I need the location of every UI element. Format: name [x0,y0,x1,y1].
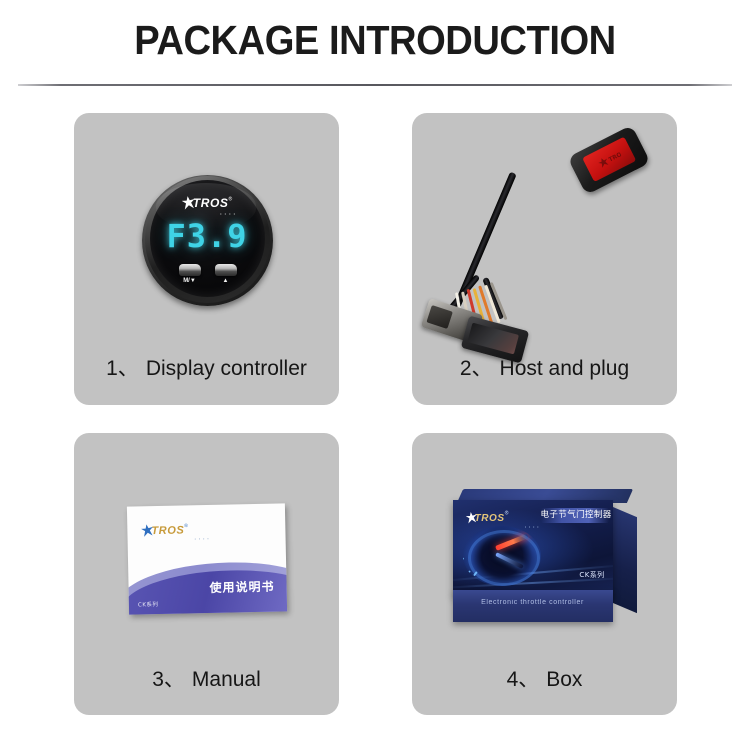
box-title-en: Electronic throttle controller [453,599,613,606]
brand-subtext: • • • • [141,538,211,543]
package-item-host-and-plug[interactable]: TROS 2、Host and plug [412,113,677,405]
title-divider [18,84,732,86]
host-red-label: TROS [582,137,636,182]
registered-trademark-icon: ® [229,197,233,203]
brand-subtext: • • • • [176,212,238,216]
panel-caption: 4、Box [412,663,677,693]
manual-title-cn: 使用说明书 [209,578,274,596]
panel-label: Manual [192,668,261,691]
manual-series-code: CK系列 [137,600,158,608]
panel-number: 4、 [507,668,540,691]
brand-name: TROS [193,196,229,210]
registered-trademark-icon: ® [184,523,188,529]
box-series-code: CK系列 [579,570,604,580]
panel-caption: 3、Manual [74,663,339,693]
gauge-tick [465,570,470,575]
xtros-brand-logo: TROS® • • • • [141,521,211,543]
panel-label: Box [546,668,582,691]
panel-label: Display controller [146,357,307,380]
package-item-manual[interactable]: TROS® • • • • 使用说明书 CK系列 3、Manual [74,433,339,715]
brand-name: TROS [151,524,184,537]
black-connector-face [467,323,519,355]
gauge-tick [463,568,466,572]
gauge-graphic [463,526,541,586]
up-button[interactable] [215,264,237,276]
registered-trademark-icon: ® [505,511,509,517]
panel-number: 1、 [106,357,139,380]
svg-text:TROS: TROS [608,150,623,164]
box-main-face: TROS® • • • • 电子节气门控制器 CK系列 [453,500,613,596]
page-header: PACKAGE INTRODUCTION [0,0,750,84]
panel-caption: 2、Host and plug [412,352,677,382]
box-front-face: Electronic throttle controller [453,590,613,622]
panel-number: 2、 [460,357,493,380]
display-readout: F3.9 [142,217,273,255]
box-side-face [613,507,637,613]
brand-name: TROS [475,513,505,524]
host-module: TROS [567,125,650,195]
box-title-cn: 电子节气门控制器 [541,508,609,523]
xtros-brand-logo: TROS® • • • • [176,195,238,216]
mode-down-button-label: M/▼ [175,278,205,284]
manual-booklet: TROS® • • • • 使用说明书 CK系列 [126,503,286,614]
panel-caption: 1、Display controller [74,352,339,382]
brand-subtext: • • • • [466,526,542,529]
mode-down-button[interactable] [179,264,201,276]
page-title: PACKAGE INTRODUCTION [26,17,724,64]
up-button-label: ▲ [211,278,241,284]
gauge-tick [463,556,464,559]
host-and-plug-device: TROS [412,113,677,363]
display-controller-device: TROS® • • • • F3.9 M/▼ ▲ [142,175,273,306]
product-box: TROS® • • • • 电子节气门控制器 CK系列 Electronic t… [453,489,637,629]
grey-connector-notch [426,305,452,329]
package-item-display-controller[interactable]: TROS® • • • • F3.9 M/▼ ▲ 1、Display contr… [74,113,339,405]
package-item-box[interactable]: TROS® • • • • 电子节气门控制器 CK系列 Electronic t… [412,433,677,715]
xtros-brand-logo: TROS® • • • • [466,509,542,529]
panel-number: 3、 [152,668,185,691]
star-icon: TROS [597,150,622,169]
panel-label: Host and plug [500,357,630,380]
